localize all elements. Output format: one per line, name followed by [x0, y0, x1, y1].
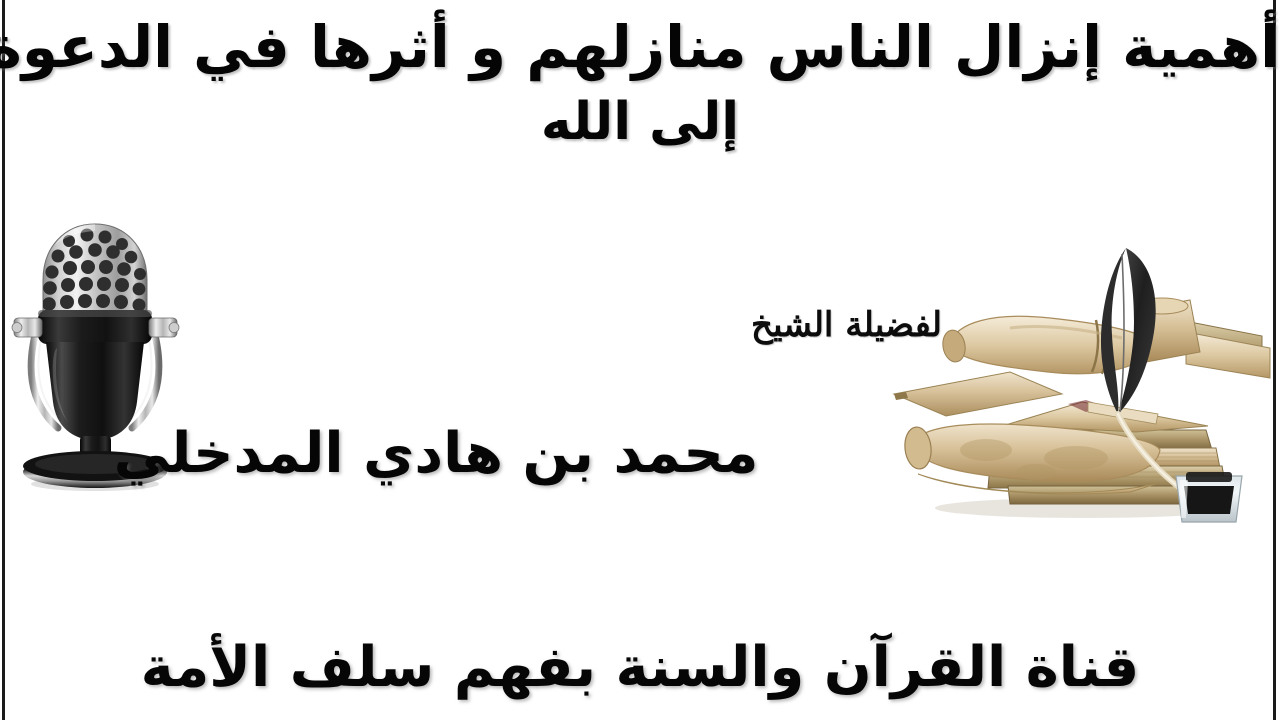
title-line-1: أهمية إنزال الناس منازلهم و أثرها في الد… — [0, 8, 1280, 86]
speaker-name: محمد بن هادي المدخلي — [0, 415, 1280, 493]
title-line-2: إلى الله — [0, 86, 1280, 158]
speaker-honorific: لفضيلة الشيخ — [751, 305, 942, 345]
page-title: أهمية إنزال الناس منازلهم و أثرها في الد… — [0, 8, 1280, 158]
lecture-title-card: أهمية إنزال الناس منازلهم و أثرها في الد… — [0, 0, 1280, 720]
channel-name: قناة القرآن والسنة بفهم سلف الأمة — [0, 628, 1280, 708]
